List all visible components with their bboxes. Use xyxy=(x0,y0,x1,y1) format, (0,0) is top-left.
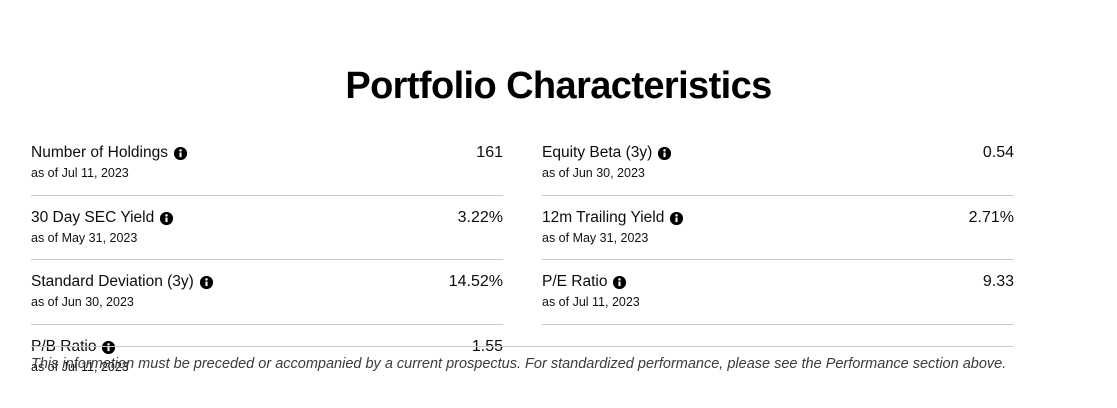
characteristic-label: 30 Day SEC Yield xyxy=(31,208,154,227)
characteristic-as-of: as of Jun 30, 2023 xyxy=(542,166,1014,182)
characteristic-label: 12m Trailing Yield xyxy=(542,208,664,227)
characteristic-as-of: as of Jul 11, 2023 xyxy=(31,166,503,182)
info-icon[interactable] xyxy=(613,276,626,289)
characteristic-header: Equity Beta (3y) 0.54 xyxy=(542,143,1014,163)
portfolio-characteristics-panel: Portfolio Characteristics Number of Hold… xyxy=(0,0,1117,408)
characteristic-as-of: as of Jun 30, 2023 xyxy=(31,295,503,311)
footnote-divider xyxy=(31,346,1013,347)
characteristic-as-of: as of May 31, 2023 xyxy=(542,231,1014,247)
characteristic-value: 2.71% xyxy=(969,208,1014,228)
characteristic-row-equity-beta-3y: Equity Beta (3y) 0.54 as of Jun 30, 2023 xyxy=(542,143,1014,196)
characteristic-row-number-of-holdings: Number of Holdings 161 as of Jul 11, 202… xyxy=(31,143,503,196)
info-icon[interactable] xyxy=(658,147,671,160)
characteristic-row-30-day-sec-yield: 30 Day SEC Yield 3.22% as of May 31, 202… xyxy=(31,208,503,261)
characteristic-label-group: Equity Beta (3y) xyxy=(542,143,671,162)
info-icon[interactable] xyxy=(670,212,683,225)
characteristic-label: P/E Ratio xyxy=(542,272,607,291)
info-icon[interactable] xyxy=(160,212,173,225)
characteristic-label: Number of Holdings xyxy=(31,143,168,162)
characteristic-value: 3.22% xyxy=(458,208,503,228)
characteristic-row-pe-ratio: P/E Ratio 9.33 as of Jul 11, 2023 xyxy=(542,272,1014,325)
characteristic-header: P/E Ratio 9.33 xyxy=(542,272,1014,292)
characteristic-label-group: P/E Ratio xyxy=(542,272,626,291)
characteristic-header: Standard Deviation (3y) 14.52% xyxy=(31,272,503,292)
info-icon[interactable] xyxy=(174,147,187,160)
characteristic-value: 14.52% xyxy=(449,272,503,292)
characteristic-label-group: 30 Day SEC Yield xyxy=(31,208,173,227)
characteristic-label-group: Standard Deviation (3y) xyxy=(31,272,213,291)
characteristic-row-standard-deviation-3y: Standard Deviation (3y) 14.52% as of Jun… xyxy=(31,272,503,325)
characteristic-row-12m-trailing-yield: 12m Trailing Yield 2.71% as of May 31, 2… xyxy=(542,208,1014,261)
characteristic-value: 0.54 xyxy=(983,143,1014,163)
footnote-section: This information must be preceded or acc… xyxy=(31,346,1013,374)
characteristic-label-group: 12m Trailing Yield xyxy=(542,208,683,227)
footnote-disclaimer: This information must be preceded or acc… xyxy=(31,355,1013,374)
info-icon[interactable] xyxy=(200,276,213,289)
characteristic-header: Number of Holdings 161 xyxy=(31,143,503,163)
characteristic-value: 161 xyxy=(476,143,503,163)
characteristic-label: Equity Beta (3y) xyxy=(542,143,652,162)
characteristic-header: 30 Day SEC Yield 3.22% xyxy=(31,208,503,228)
characteristic-as-of: as of Jul 11, 2023 xyxy=(542,295,1014,311)
characteristic-value: 9.33 xyxy=(983,272,1014,292)
characteristic-header: 12m Trailing Yield 2.71% xyxy=(542,208,1014,228)
page-title: Portfolio Characteristics xyxy=(0,65,1117,109)
characteristic-label-group: Number of Holdings xyxy=(31,143,187,162)
characteristic-label: Standard Deviation (3y) xyxy=(31,272,194,291)
characteristic-as-of: as of May 31, 2023 xyxy=(31,231,503,247)
